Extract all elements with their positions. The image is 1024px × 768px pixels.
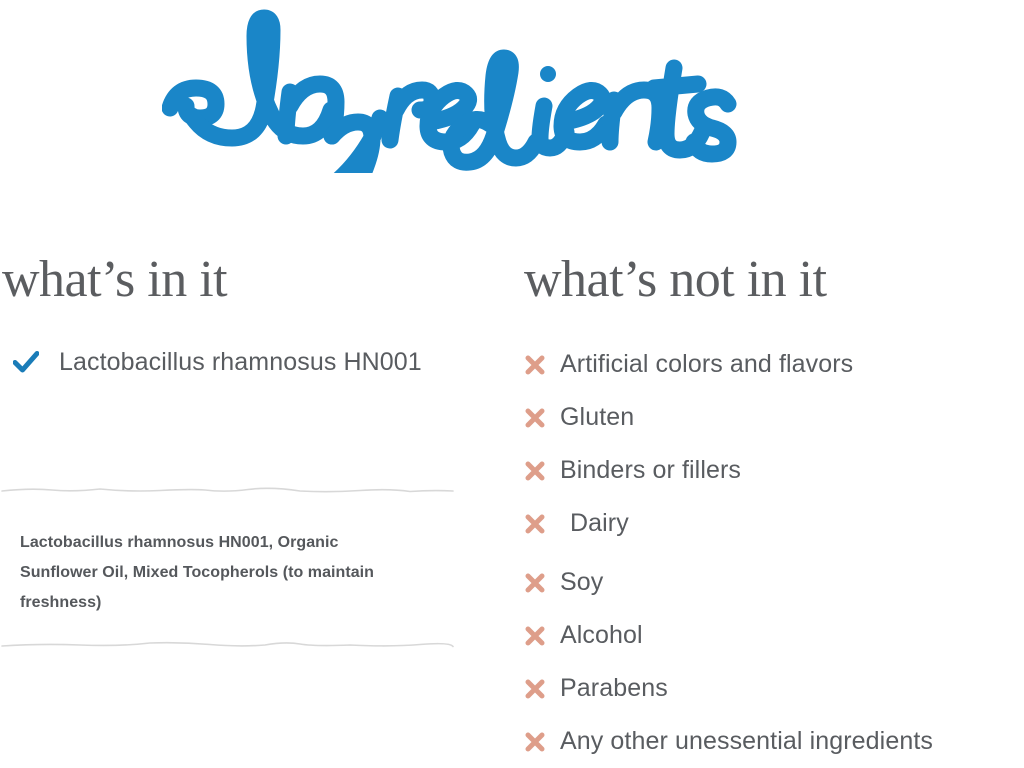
list-item-label: Any other unessential ingredients (560, 727, 933, 756)
wavy-divider-bottom-icon (0, 640, 455, 650)
list-item: Lactobacillus rhamnosus HN001 (0, 342, 512, 382)
cross-icon (524, 678, 546, 700)
column-whats-not-in-it: what’s not in it Artificial colors and f… (512, 250, 1024, 768)
list-item-label: Parabens (560, 674, 668, 703)
list-item: Artificial colors and flavors (524, 338, 1024, 391)
excluded-ingredients-list: Artificial colors and flavors Gluten Bin… (524, 338, 1024, 768)
ingredient-statement-panel: Lactobacillus rhamnosus HN001, Organic S… (0, 486, 470, 650)
column-whats-in-it: what’s in it Lactobacillus rhamnosus HN0… (0, 250, 512, 382)
heading-whats-in-it: what’s in it (0, 250, 512, 308)
list-item-label: Lactobacillus rhamnosus HN001 (59, 348, 422, 377)
list-item: Gluten (524, 391, 1024, 444)
list-item-label: Artificial colors and flavors (560, 350, 853, 379)
list-item: Binders or fillers (524, 444, 1024, 497)
cross-icon (524, 572, 546, 594)
cross-icon (524, 513, 546, 535)
list-item-label: Soy (560, 568, 603, 597)
heading-whats-not-in-it: what’s not in it (512, 250, 1024, 308)
list-item-label: Dairy (570, 509, 629, 538)
list-item-label: Binders or fillers (560, 456, 741, 485)
ingredients-script-logo (162, 8, 862, 173)
page-title-block: Ingredients (0, 8, 1024, 178)
list-item: Alcohol (524, 609, 1024, 662)
list-item: Dairy (524, 497, 1024, 550)
list-item-label: Alcohol (560, 621, 643, 650)
wavy-divider-top-icon (0, 486, 455, 496)
wavy-divider-bottom-wrap (0, 618, 470, 650)
check-icon (13, 349, 39, 375)
list-item: Any other unessential ingredients (524, 715, 1024, 768)
cross-icon (524, 625, 546, 647)
cross-icon (524, 731, 546, 753)
included-ingredients-list: Lactobacillus rhamnosus HN001 (0, 342, 512, 382)
cross-icon (524, 407, 546, 429)
list-item-label: Gluten (560, 403, 634, 432)
list-item: Soy (524, 556, 1024, 609)
cross-icon (524, 460, 546, 482)
ingredients-columns: what’s in it Lactobacillus rhamnosus HN0… (0, 250, 1024, 741)
list-item: Parabens (524, 662, 1024, 715)
ingredient-statement-text: Lactobacillus rhamnosus HN001, Organic S… (0, 496, 470, 618)
cross-icon (524, 354, 546, 376)
